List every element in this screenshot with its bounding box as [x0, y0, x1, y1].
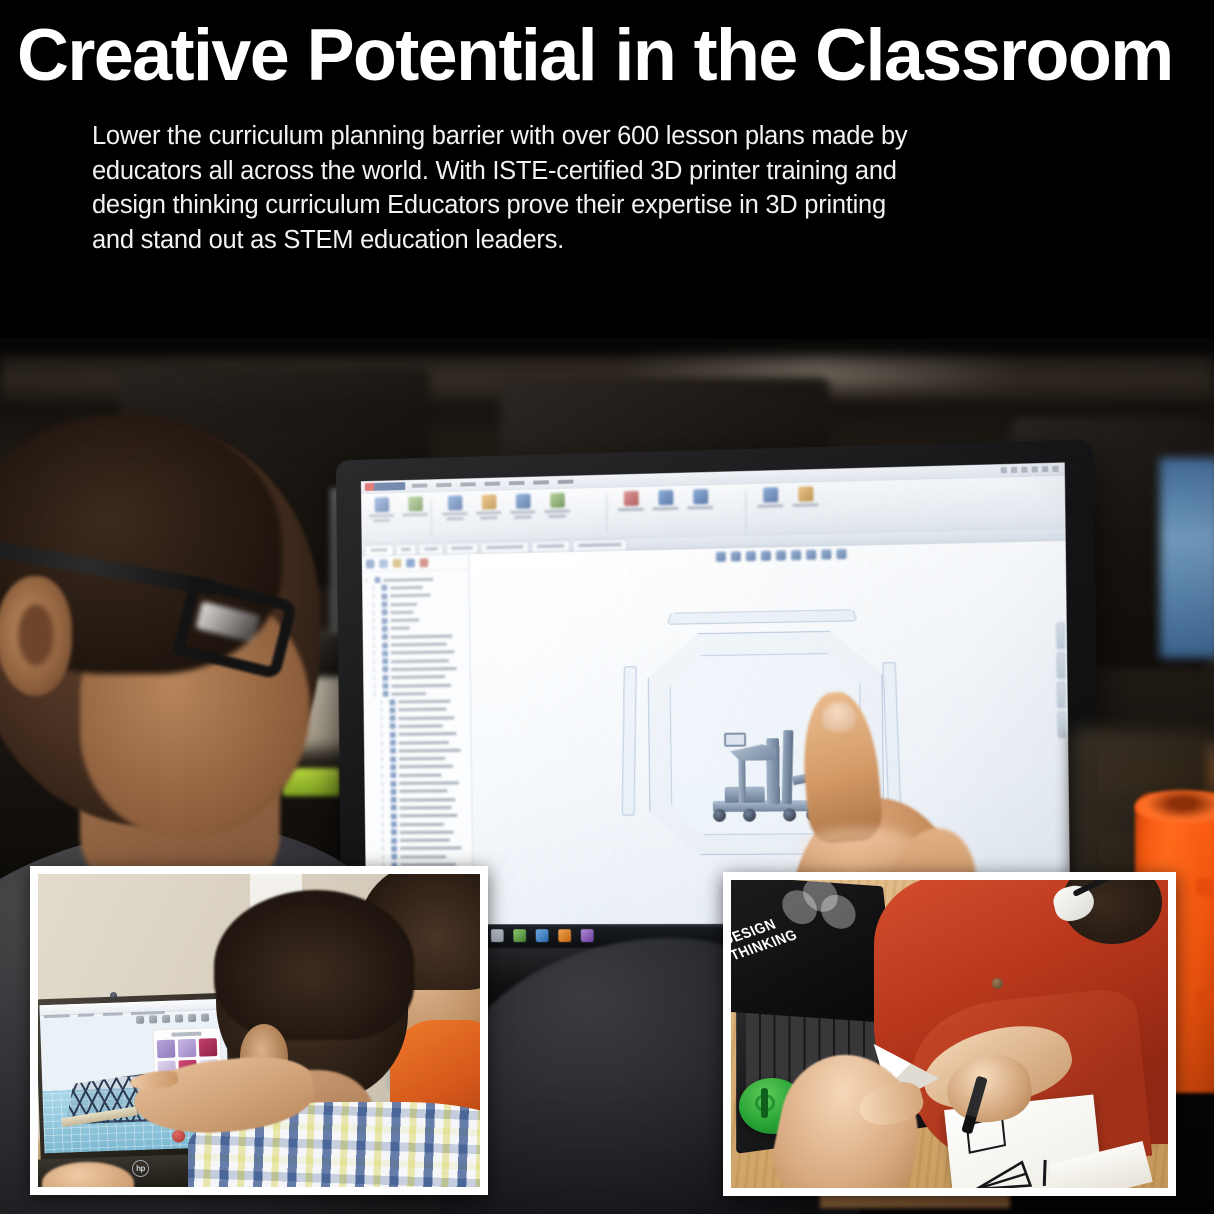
section-view-icon[interactable] — [836, 549, 846, 559]
ribbon-instant3d[interactable] — [792, 486, 818, 507]
hp-logo: hp — [132, 1160, 149, 1177]
vehicle-wheel — [713, 809, 726, 822]
sketch-tick-mark — [1043, 1160, 1047, 1186]
vehicle-wheel — [743, 809, 756, 822]
rotate-view-icon[interactable] — [746, 551, 756, 561]
ribbon-smart-fasteners[interactable] — [476, 494, 502, 519]
ribbon-assembly-features[interactable] — [618, 491, 644, 512]
subtitle-line-1: Lower the curriculum planning barrier wi… — [92, 119, 1122, 154]
ribbon-show-hide[interactable] — [544, 493, 570, 518]
mug-handle — [1196, 878, 1214, 1008]
view-heads-up-toolbar[interactable] — [716, 549, 847, 562]
file-explorer-pane-icon[interactable] — [1057, 652, 1066, 679]
vehicle-support-post — [738, 759, 746, 803]
app-menu-file[interactable] — [44, 1014, 70, 1018]
subtitle-line-3: design thinking curriculum Educators pro… — [92, 188, 1122, 223]
student-ear-inner — [18, 604, 54, 666]
page-title: Creative Potential in the Classroom — [17, 19, 1189, 92]
edge-icon[interactable] — [536, 929, 549, 942]
motion-study-icon — [693, 489, 708, 504]
rebuild-icon[interactable] — [1042, 466, 1048, 472]
solidworks-icon[interactable] — [491, 929, 504, 942]
vehicle-head-bracket — [724, 733, 746, 747]
page-subtitle: Lower the curriculum planning barrier wi… — [92, 119, 1122, 257]
menu-insert[interactable] — [485, 482, 501, 486]
green-disc-slot — [761, 1088, 768, 1118]
design-app-tool-icons[interactable] — [136, 1013, 209, 1024]
app-menu-edit[interactable] — [78, 1013, 94, 1017]
zoom-to-fit-icon[interactable] — [716, 552, 726, 562]
quick-access-toolbar[interactable] — [1001, 466, 1065, 474]
appearances-pane-icon[interactable] — [1057, 711, 1066, 738]
ribbon-exploded-view[interactable] — [757, 487, 783, 508]
model-side-panel-left — [622, 666, 637, 815]
scale-tool-icon[interactable] — [162, 1015, 170, 1023]
coat-button — [992, 978, 1003, 989]
design-library-icon[interactable] — [1056, 623, 1065, 650]
mirror-tool-icon[interactable] — [201, 1013, 209, 1021]
sketch-triangle-svg — [972, 1157, 1033, 1188]
chrome-icon[interactable] — [513, 929, 526, 942]
ribbon-separator-3 — [745, 490, 746, 530]
view-orientation-icon[interactable] — [761, 551, 771, 561]
group-tool-icon[interactable] — [175, 1014, 183, 1022]
sketch-triangle — [972, 1157, 1033, 1188]
task-pane-tabs[interactable] — [1056, 623, 1066, 738]
shapes-row[interactable] — [157, 1038, 218, 1058]
ribbon-group-component[interactable] — [442, 493, 570, 540]
tab-solidworks-mbd[interactable] — [572, 539, 627, 551]
hide-show-items-icon[interactable] — [791, 550, 801, 560]
shapes-panel-title — [172, 1032, 202, 1037]
options-icon[interactable] — [1052, 466, 1058, 472]
model-enclosure-lid — [667, 610, 857, 625]
inset-photo-right: ThinkPad DESIGN THINKING — [723, 872, 1176, 1196]
subtitle-line-2: educators all across the world. With IST… — [92, 154, 1122, 189]
print-icon[interactable] — [1011, 467, 1017, 473]
move-tool-icon[interactable] — [136, 1016, 144, 1024]
ribbon-separator-2 — [606, 494, 607, 534]
first-student-hair — [214, 890, 414, 1040]
shape-swatch[interactable] — [199, 1038, 218, 1057]
app-menu-view[interactable] — [103, 1012, 123, 1016]
inset-left-image: hp — [38, 874, 480, 1187]
assembly-feature-icon — [623, 491, 638, 506]
shape-swatch[interactable] — [178, 1039, 197, 1058]
align-tool-icon[interactable] — [188, 1014, 196, 1022]
undo-icon[interactable] — [1021, 467, 1027, 473]
menu-help[interactable] — [558, 480, 574, 484]
menu-tools[interactable] — [509, 481, 525, 485]
ribbon-move-component[interactable] — [510, 493, 536, 518]
show-hide-icon — [550, 493, 565, 508]
menu-view[interactable] — [460, 482, 476, 486]
ribbon-group-exploded[interactable] — [757, 486, 819, 532]
exploded-view-icon — [763, 487, 778, 502]
instant3d-icon — [798, 486, 813, 501]
view-palette-icon[interactable] — [1057, 682, 1066, 709]
ribbon-new-motion-study[interactable] — [687, 489, 713, 510]
webcam-icon — [110, 992, 117, 999]
inset-photo-left: hp — [30, 866, 488, 1195]
fingernail — [822, 702, 856, 732]
inset-right-image: ThinkPad DESIGN THINKING — [731, 880, 1168, 1188]
media-icon[interactable] — [558, 929, 571, 942]
redo-icon[interactable] — [1032, 466, 1038, 472]
subtitle-line-4: and stand out as STEM education leaders. — [92, 223, 1122, 258]
tab-simulation[interactable] — [531, 540, 570, 552]
display-style-icon[interactable] — [776, 550, 786, 560]
ribbon-group-assembly-features[interactable] — [618, 489, 714, 535]
move-component-icon — [515, 494, 530, 509]
scene-icon[interactable] — [821, 549, 831, 559]
smart-fastener-icon — [481, 495, 496, 510]
save-icon[interactable] — [1001, 467, 1007, 473]
appearances-icon[interactable] — [806, 550, 816, 560]
tab-solidworks-addins[interactable] — [480, 541, 529, 553]
reference-geometry-icon — [658, 490, 673, 505]
shape-swatch[interactable] — [157, 1040, 176, 1059]
header-band: Creative Potential in the Classroom Lowe… — [0, 0, 1214, 338]
background-blue-screen — [1160, 458, 1214, 658]
rotate-tool-icon[interactable] — [149, 1015, 157, 1023]
ribbon-reference-geometry[interactable] — [652, 490, 678, 511]
settings-icon[interactable] — [581, 929, 594, 942]
thinkpad-lid-screen: DESIGN THINKING — [731, 880, 897, 1024]
menu-window[interactable] — [533, 480, 549, 484]
zoom-to-area-icon[interactable] — [731, 551, 741, 561]
tab-evaluate[interactable] — [445, 542, 478, 554]
venn-circle — [819, 894, 857, 930]
poster-page: Creative Potential in the Classroom Lowe… — [0, 0, 1214, 1214]
